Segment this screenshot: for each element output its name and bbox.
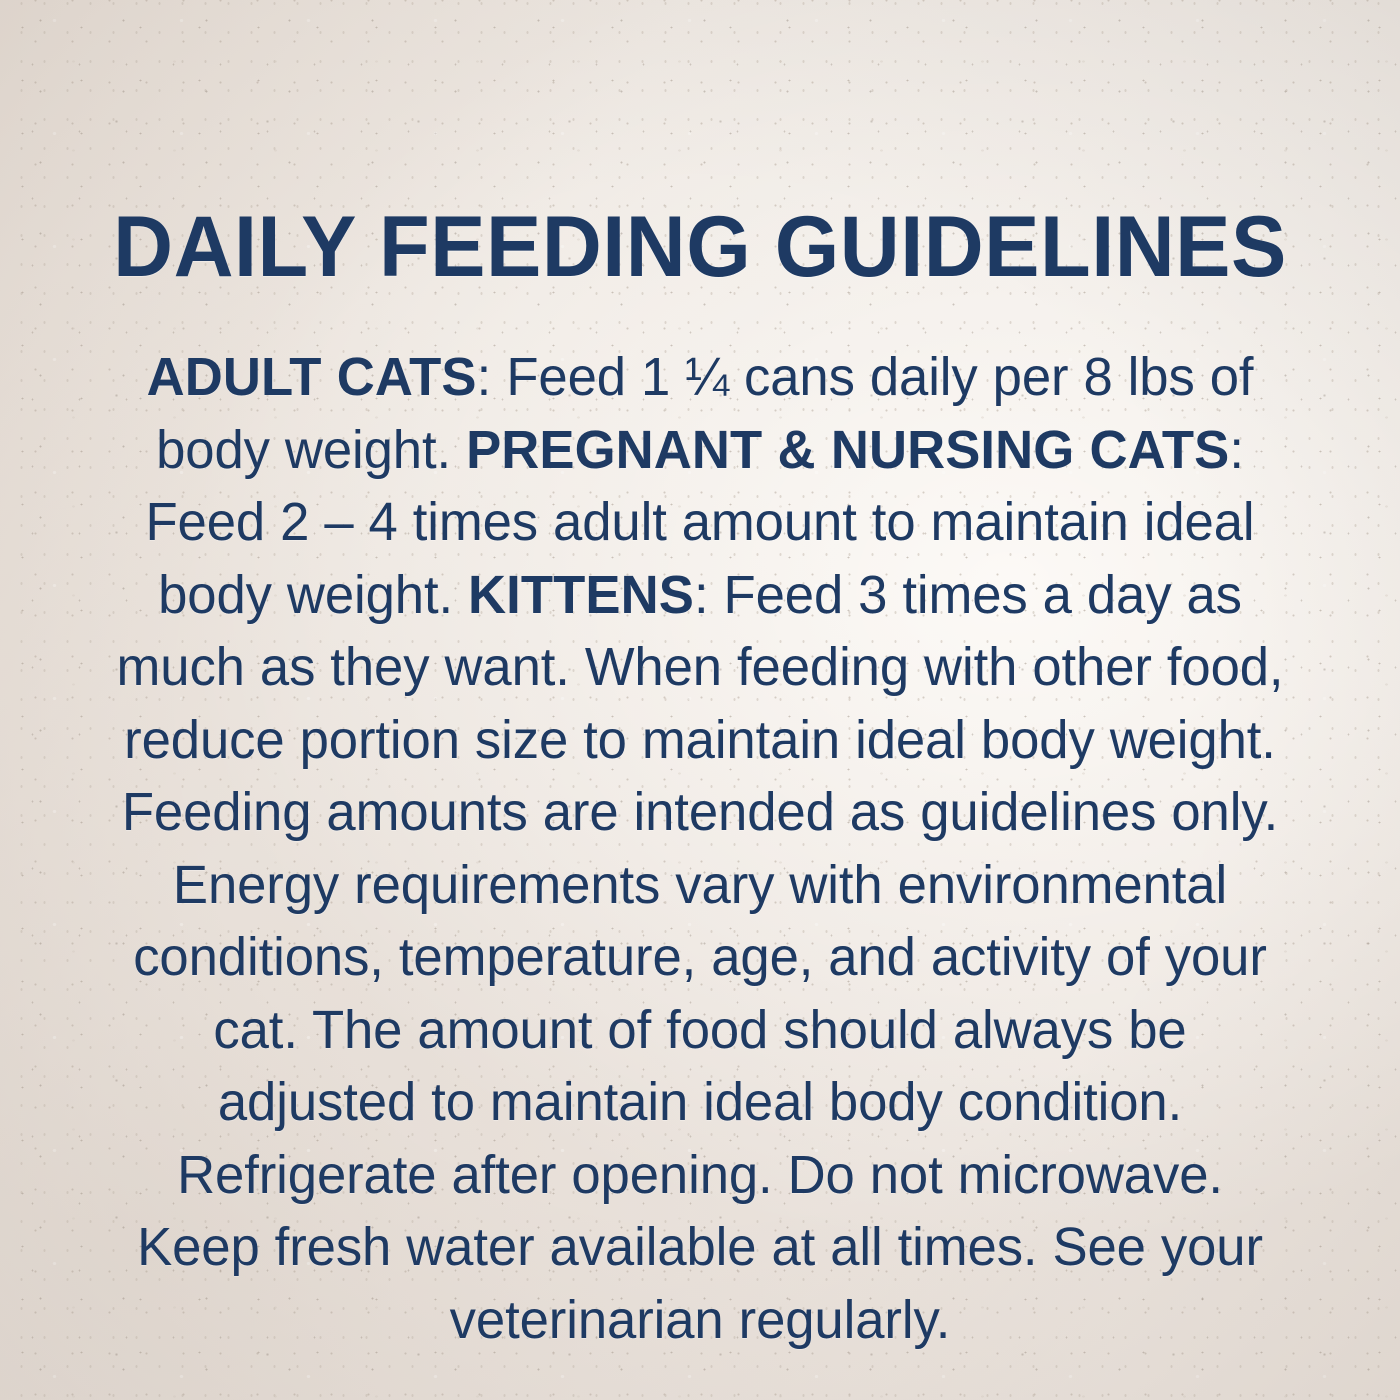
feeding-instructions-paragraph: ADULT CATS: Feed 1 ¼ cans daily per 8 lb… [111,341,1289,1356]
page-title: DAILY FEEDING GUIDELINES [25,204,1376,292]
section-separator-kittens: : [694,565,709,625]
section-label-adult-cats: ADULT CATS [147,347,477,407]
section-label-kittens: KITTENS [468,565,694,625]
section-label-pregnant-nursing-cats: PREGNANT & NURSING CATS [466,420,1229,480]
section-separator-pregnant-nursing-cats: : [1229,420,1244,480]
section-text-kittens: Feed 3 times a day as much as they want.… [117,565,1284,1350]
section-separator-adult-cats: : [477,347,492,407]
feeding-guidelines-panel: DAILY FEEDING GUIDELINES ADULT CATS: Fee… [0,0,1400,1400]
